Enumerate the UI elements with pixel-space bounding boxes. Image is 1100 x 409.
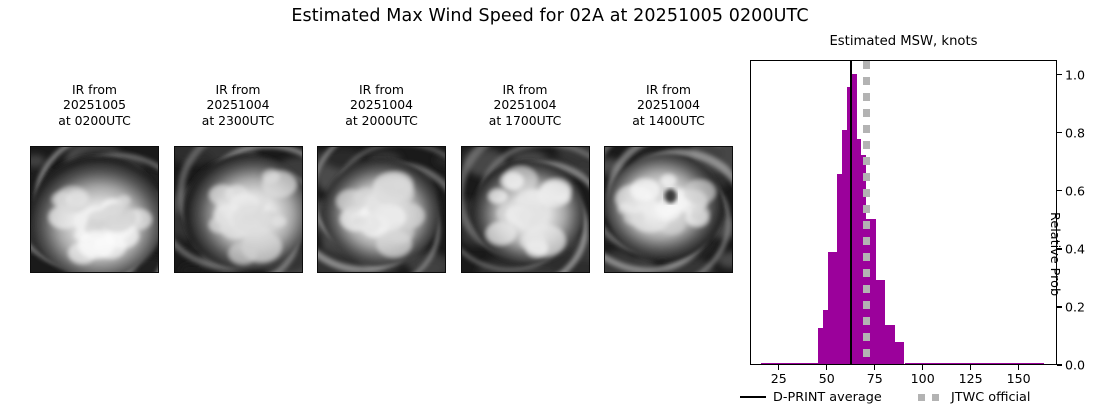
x-axis-tick xyxy=(874,365,875,370)
y-axis-tick-label: 0.6 xyxy=(1065,183,1085,198)
legend-label-dprint: D-PRINT average xyxy=(773,390,882,405)
x-axis-tick-label: 25 xyxy=(771,371,787,386)
y-axis-tick xyxy=(1057,306,1062,307)
y-axis-tick-label: 0.8 xyxy=(1065,125,1085,140)
solid-line-swatch-icon xyxy=(740,396,766,398)
y-axis-tick-label: 1.0 xyxy=(1065,67,1085,82)
x-axis-tick-label: 150 xyxy=(1007,371,1031,386)
y-axis-tick xyxy=(1057,364,1062,365)
ir-caption-line-1: IR from xyxy=(174,82,303,97)
jtwc-official-line xyxy=(863,61,870,364)
legend-entry-jtwc: JTWC official xyxy=(918,388,1030,406)
dprint-average-line xyxy=(850,61,852,364)
dashed-line-swatch-icon xyxy=(918,394,944,401)
ir-satellite-image xyxy=(317,146,446,273)
y-axis-tick xyxy=(1057,190,1062,191)
ir-caption-line-2: 20251004 xyxy=(317,97,446,112)
ir-panel-20251004-2300utc: IR from20251004at 2300UTC xyxy=(174,82,303,128)
x-axis-tick-label: 75 xyxy=(867,371,883,386)
ir-panel-20251005-0200utc: IR from20251005at 0200UTC xyxy=(30,82,159,128)
x-axis-tick-label: 50 xyxy=(819,371,835,386)
reference-lines xyxy=(751,61,1056,364)
ir-satellite-image xyxy=(30,146,159,273)
ir-panel-20251004-2000utc: IR from20251004at 2000UTC xyxy=(317,82,446,128)
x-axis-tick xyxy=(826,365,827,370)
y-axis-tick-label: 0.4 xyxy=(1065,241,1085,256)
legend-label-jtwc: JTWC official xyxy=(951,390,1030,405)
ir-caption-line-2: 20251004 xyxy=(604,97,733,112)
y-axis-tick-label: 0.2 xyxy=(1065,299,1085,314)
ir-caption-line-2: 20251004 xyxy=(461,97,590,112)
ir-panel-caption: IR from20251004at 2300UTC xyxy=(174,82,303,128)
ir-panel-20251004-1700utc: IR from20251004at 1700UTC xyxy=(461,82,590,128)
ir-caption-line-2: 20251004 xyxy=(174,97,303,112)
x-axis-tick-label: 100 xyxy=(911,371,935,386)
ir-caption-line-3: at 0200UTC xyxy=(30,113,159,128)
ir-caption-line-1: IR from xyxy=(461,82,590,97)
legend-entry-dprint: D-PRINT average xyxy=(740,388,882,406)
ir-caption-line-1: IR from xyxy=(30,82,159,97)
histogram-area: Estimated MSW, knots 2550751001251500.00… xyxy=(740,30,1090,409)
ir-panel-strip: IR from20251005at 0200UTCIR from20251004… xyxy=(30,82,736,282)
ir-caption-line-1: IR from xyxy=(604,82,733,97)
plot-frame xyxy=(750,60,1057,365)
chart-legend: D-PRINT average JTWC official xyxy=(740,388,1090,408)
y-axis-tick xyxy=(1057,74,1062,75)
ir-caption-line-3: at 1700UTC xyxy=(461,113,590,128)
ir-panel-caption: IR from20251004at 1700UTC xyxy=(461,82,590,128)
ir-caption-line-2: 20251005 xyxy=(30,97,159,112)
chart-title: Estimated MSW, knots xyxy=(750,34,1057,49)
ir-satellite-image xyxy=(461,146,590,273)
y-axis-tick-label: 0.0 xyxy=(1065,358,1085,373)
ir-caption-line-1: IR from xyxy=(317,82,446,97)
x-axis-tick xyxy=(970,365,971,370)
x-axis-tick-label: 125 xyxy=(959,371,983,386)
ir-satellite-image xyxy=(604,146,733,273)
x-axis-tick xyxy=(922,365,923,370)
ir-panel-caption: IR from20251005at 0200UTC xyxy=(30,82,159,128)
ir-panel-caption: IR from20251004at 2000UTC xyxy=(317,82,446,128)
ir-caption-line-3: at 1400UTC xyxy=(604,113,733,128)
y-axis-tick xyxy=(1057,132,1062,133)
ir-panel-caption: IR from20251004at 1400UTC xyxy=(604,82,733,128)
ir-caption-line-3: at 2300UTC xyxy=(174,113,303,128)
ir-caption-line-3: at 2000UTC xyxy=(317,113,446,128)
x-axis-tick xyxy=(778,365,779,370)
page-title: Estimated Max Wind Speed for 02A at 2025… xyxy=(0,6,1100,26)
x-axis-tick xyxy=(1018,365,1019,370)
ir-satellite-image xyxy=(174,146,303,273)
y-axis-label: Relative Prob xyxy=(1047,212,1062,296)
ir-panel-20251004-1400utc: IR from20251004at 1400UTC xyxy=(604,82,733,128)
